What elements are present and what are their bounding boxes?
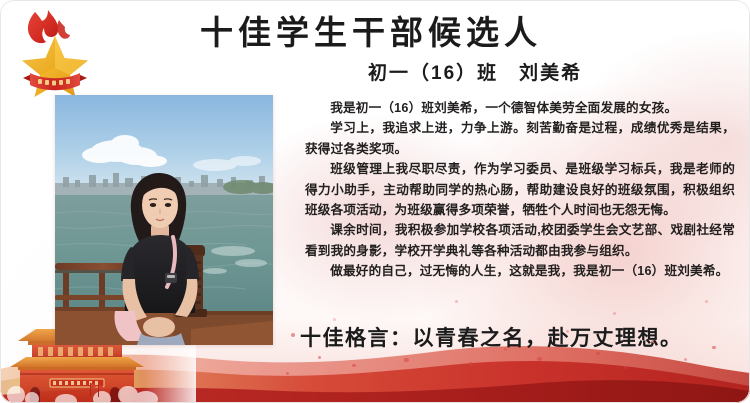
intro-paragraph: 班级管理上我尽职尽责，作为学习委员、是班级学习标兵，我是老师的得力小助手，主动帮… xyxy=(305,159,735,220)
chinese-young-pioneers-emblem-icon xyxy=(14,6,96,98)
poster-subtitle: 初一（16）班 刘美希 xyxy=(368,58,708,85)
candidate-motto: 十佳格言：以青春之名，赴万丈理想。 xyxy=(300,322,745,352)
intro-paragraph: 课余时间，我积极参加学校各项活动,校团委学生会文艺部、戏剧社经常看到我的身影，学… xyxy=(305,220,735,261)
intro-paragraph: 做最好的自己，过无悔的人生，这就是我，我是初一（16）班刘美希。 xyxy=(305,261,735,281)
candidate-introduction-text: 我是初一（16）班刘美希，一个德智体美劳全面发展的女孩。 学习上，我追求上进，力… xyxy=(305,98,735,282)
intro-paragraph: 我是初一（16）班刘美希，一个德智体美劳全面发展的女孩。 xyxy=(305,98,735,118)
candidate-poster: 十佳学生干部候选人 初一（16）班 刘美希 xyxy=(0,0,750,403)
candidate-portrait-photo xyxy=(55,95,273,345)
intro-paragraph: 学习上，我追求上进，力争上游。刻苦勤奋是过程，成绩优秀是结果，获得过各类奖项。 xyxy=(305,118,735,159)
poster-title: 十佳学生干部候选人 xyxy=(200,14,600,53)
